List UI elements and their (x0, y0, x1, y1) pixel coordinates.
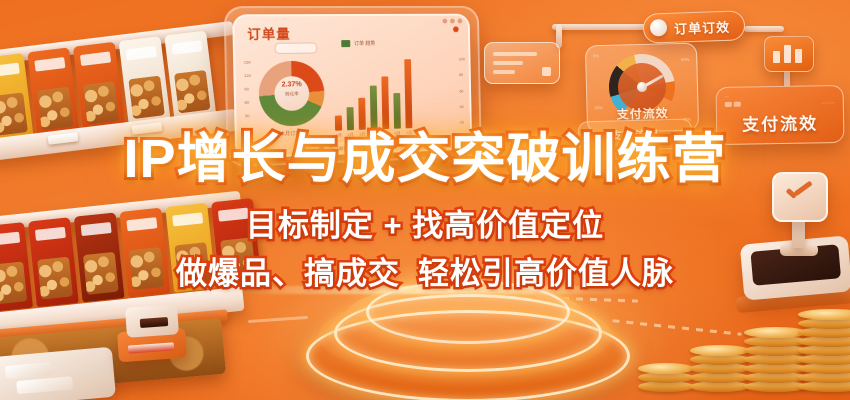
chart-bar (381, 76, 389, 129)
paper-sheet (5, 362, 52, 379)
window-dot (450, 19, 455, 24)
right-tick: 80 (459, 72, 465, 77)
podium-stage (300, 288, 630, 400)
page-title: IP增长与成交突破训练营 (0, 132, 850, 187)
subtitle-block: 目标制定 + 找高价值定位 做爆品、搞成交轻松引高价值人脉 (0, 202, 850, 298)
printer-slot (140, 317, 169, 328)
coin-stack (798, 0, 850, 400)
paper-sheet (16, 376, 73, 394)
card-line (493, 70, 515, 74)
subtitle-line-2: 做爆品、搞成交轻松引高价值人脉 (0, 250, 850, 298)
coin (690, 345, 750, 356)
y-tick: 60 (244, 100, 251, 105)
subtitle-line-2b: 轻松引高价值人脉 (418, 256, 674, 291)
right-tick: 40 (460, 104, 466, 109)
gauge-tick: 0% (593, 53, 599, 58)
snack-bag (119, 36, 171, 126)
snack-bag (73, 42, 125, 132)
snack-bag (164, 31, 216, 121)
dashboard-title: 订单量 (247, 23, 291, 43)
subtitle-line-2a: 做爆品、搞成交 (176, 256, 400, 291)
dashboard-filter-chip[interactable] (274, 42, 317, 54)
right-tick: 20 (460, 120, 466, 125)
coin (798, 309, 850, 320)
card-line (493, 52, 537, 56)
snack-bag (27, 47, 79, 137)
chart-bar (347, 107, 354, 131)
y-tick: 120 (244, 73, 251, 78)
banner-stage: 订单量 订单 趋势 150 120 90 60 30 0 2.37% 转化率 本… (0, 0, 850, 400)
status-badge (453, 26, 459, 32)
donut-center-value: 2.37% (259, 81, 325, 89)
subtitle-line-1: 目标制定 + 找高价值定位 (0, 202, 850, 250)
card-line (493, 61, 523, 65)
dashboard-legend: 订单 趋势 (341, 40, 375, 47)
legend-label: 订单 趋势 (354, 40, 375, 47)
y-tick: 90 (244, 86, 251, 91)
y-tick: 150 (244, 60, 251, 65)
title-block: IP增长与成交突破训练营 (0, 132, 850, 187)
bar-chart (334, 55, 454, 131)
right-tick: 100 (459, 56, 465, 61)
chart-bar (370, 85, 378, 129)
chart-right-axis: 100 80 60 40 20 (459, 56, 467, 124)
window-dot (458, 19, 463, 24)
chart-y-axis: 150 120 90 60 30 0 (244, 60, 253, 132)
coin-stack (690, 0, 750, 400)
paper-tray (0, 347, 116, 400)
coin-stack (638, 0, 694, 400)
window-dot (442, 19, 447, 24)
legend-swatch (341, 40, 350, 47)
coin (638, 363, 694, 374)
mini-status-card (484, 42, 560, 84)
right-tick: 60 (459, 88, 465, 93)
y-tick: 30 (245, 113, 252, 118)
dashboard-window-controls[interactable] (442, 19, 462, 24)
connector-pipe (552, 24, 648, 30)
card-square-icon (542, 67, 551, 76)
chart-bar (358, 98, 366, 130)
chart-bar (404, 59, 412, 128)
chart-bar (393, 93, 400, 129)
